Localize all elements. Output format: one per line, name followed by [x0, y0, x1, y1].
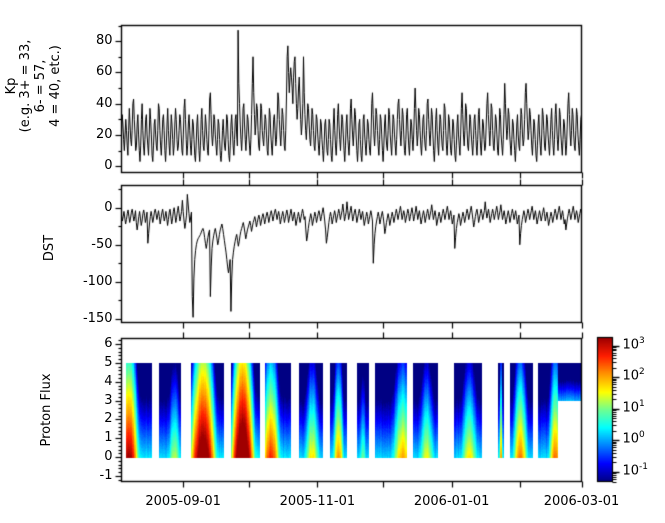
xtick-label: 2005-11-01 — [257, 494, 377, 509]
kp-ytick-label: 40 — [96, 96, 113, 111]
dst-ytick-label: -150 — [83, 311, 113, 326]
proton-flux-ytick-label: 5 — [104, 355, 112, 370]
figure-container: Kp (e.g. 3+ = 33, 6- = 57, 4 = 40, etc.)… — [0, 0, 665, 523]
xtick-label: 2005-09-01 — [123, 494, 243, 509]
colorbar-tick-exponent: 2 — [639, 367, 645, 377]
colorbar-tick-label: 100 — [623, 430, 645, 446]
colorbar-tick-mantissa: 10 — [623, 400, 640, 415]
proton-flux-ytick-label: 4 — [104, 374, 112, 389]
dst-axis-title-text: DST — [43, 235, 58, 261]
colorbar-tick-exponent: 1 — [639, 399, 645, 409]
dst-axis-title: DST — [40, 218, 60, 278]
xtick-label: 2006-03-01 — [522, 494, 642, 509]
colorbar-tick-label: 103 — [623, 336, 645, 352]
colorbar-tick-mantissa: 10 — [623, 369, 640, 384]
colorbar-tick-exponent: 3 — [639, 336, 645, 346]
proton-flux-ytick-label: 6 — [104, 336, 112, 351]
colorbar-tick-exponent: 0 — [639, 430, 645, 440]
colorbar-tick-mantissa: 10 — [623, 432, 640, 447]
proton-flux-ytick-label: 3 — [104, 393, 112, 408]
colorbar-tick-label: 10-1 — [623, 462, 649, 478]
dst-ytick-label: 0 — [104, 200, 112, 215]
kp-ytick-label: 20 — [96, 127, 113, 142]
kp-axis-title: Kp (e.g. 3+ = 33, 6- = 57, 4 = 40, etc.) — [0, 16, 68, 156]
proton-flux-ytick-label: 2 — [104, 411, 112, 426]
kp-axis-title-text: Kp (e.g. 3+ = 33, 6- = 57, 4 = 40, etc.) — [5, 40, 63, 133]
proton-flux-ytick-label: -1 — [100, 468, 113, 483]
kp-ytick-label: 60 — [96, 64, 113, 79]
proton-flux-ytick-label: 0 — [104, 449, 112, 464]
proton-flux-axis-title: Proton Flux — [37, 360, 57, 460]
proton-flux-axis-title-text: Proton Flux — [40, 373, 55, 446]
dst-ytick-label: -100 — [83, 274, 113, 289]
proton-flux-ytick-label: 1 — [104, 430, 112, 445]
xtick-label: 2006-01-01 — [392, 494, 512, 509]
kp-ytick-label: 80 — [96, 33, 113, 48]
colorbar-tick-mantissa: 10 — [623, 337, 640, 352]
colorbar-tick-mantissa: 10 — [623, 463, 640, 478]
colorbar-tick-label: 102 — [623, 367, 645, 383]
colorbar-tick-label: 101 — [623, 399, 645, 415]
colorbar-tick-exponent: -1 — [639, 462, 648, 472]
dst-ytick-label: -50 — [91, 237, 112, 252]
kp-ytick-label: 0 — [104, 158, 112, 173]
